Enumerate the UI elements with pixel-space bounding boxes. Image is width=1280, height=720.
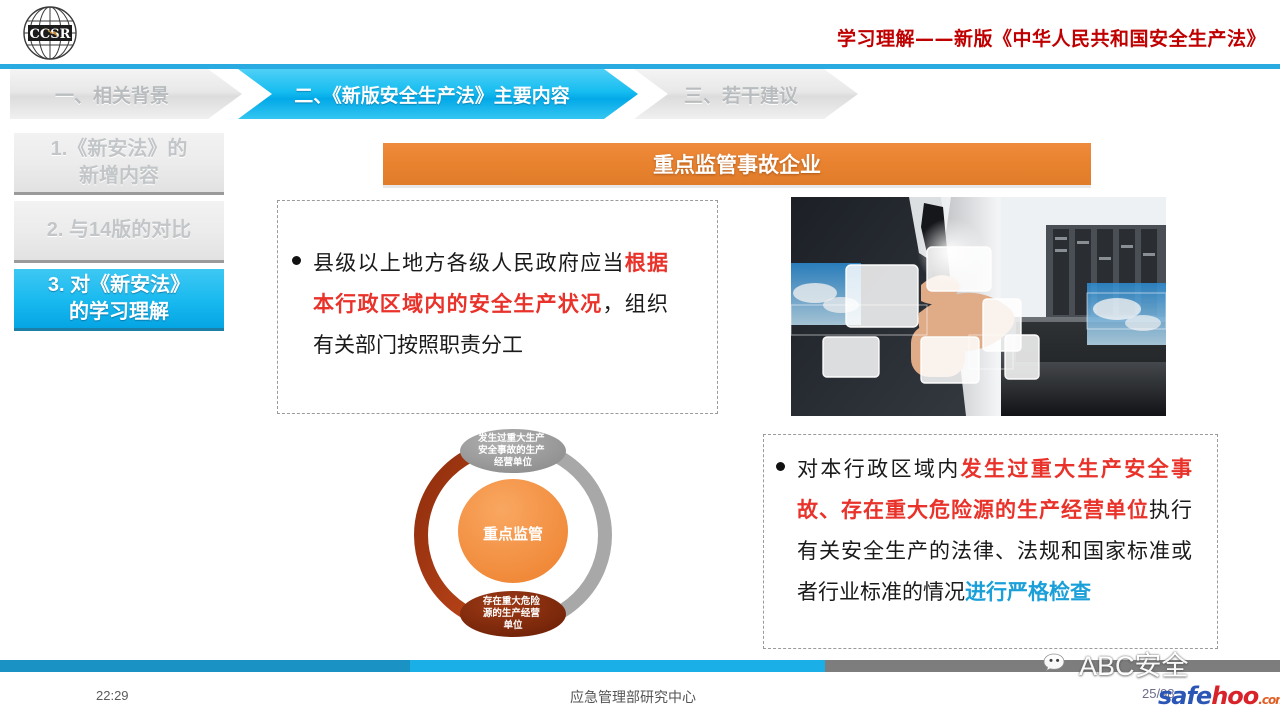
seg-plain: 对本行政区域内 xyxy=(797,457,961,481)
sidebar-item-new-content[interactable]: 1.《新安法》的 新增内容 xyxy=(14,133,224,195)
logo-text: CCSR xyxy=(30,27,71,42)
focus-supervision-ring-diagram: 重点监管 发生过重大生产 安全事故的生产 经营单位 存在重大危险 源的生产经营 … xyxy=(404,427,622,639)
bullet-icon xyxy=(292,256,301,265)
footer-organization: 应急管理部研究中心 xyxy=(570,687,696,707)
footer-progress-fill xyxy=(0,660,410,672)
text-box-government-duty: 县级以上地方各级人民政府应当根据本行政区域内的安全生产状况，组织有关部门按照职责… xyxy=(277,200,718,414)
box-a-text: 县级以上地方各级人民政府应当根据本行政区域内的安全生产状况，组织有关部门按照职责… xyxy=(313,243,668,366)
box-b-text: 对本行政区域内发生过重大生产安全事故、存在重大危险源的生产经营单位执行有关安全生… xyxy=(797,449,1192,613)
sidebar: 1.《新安法》的 新增内容 2. 与14版的对比 3. 对《新安法》 的学习理解 xyxy=(14,133,224,337)
tab-background[interactable]: 一、相关背景 xyxy=(10,69,242,119)
watermark-safehoo: safehoo.com xyxy=(1158,684,1280,712)
sidebar-item-label-line2: 的学习理解 xyxy=(69,299,169,326)
sidebar-item-label-line1: 1.《新安法》的 xyxy=(51,136,188,163)
sidebar-item-study[interactable]: 3. 对《新安法》 的学习理解 xyxy=(14,269,224,331)
seg-blue: 进行严格检查 xyxy=(965,580,1091,604)
ccsr-globe-logo: CCSR xyxy=(18,6,82,62)
header-divider xyxy=(0,64,1280,69)
page-title: 学习理解——新版《中华人民共和国安全生产法》 xyxy=(837,24,1266,51)
tab-suggestions[interactable]: 三、若干建议 xyxy=(634,69,858,119)
sidebar-item-comparison[interactable]: 2. 与14版的对比 xyxy=(14,201,224,263)
bullet-icon xyxy=(776,462,785,471)
seg-plain: 县级以上地方各级人民政府应当 xyxy=(313,251,625,275)
section-banner: 重点监管事故企业 xyxy=(383,143,1091,188)
sidebar-item-label-line2: 新增内容 xyxy=(79,163,159,190)
slide-root: CCSR 学习理解——新版《中华人民共和国安全生产法》 一、相关背景 二、《新版… xyxy=(0,0,1280,720)
footer-time: 22:29 xyxy=(96,688,129,703)
safehoo-part-1: safe xyxy=(1158,682,1211,710)
tab-main-content[interactable]: 二、《新版安全生产法》主要内容 xyxy=(238,69,638,119)
sidebar-item-label-line1: 2. 与14版的对比 xyxy=(47,217,191,244)
sidebar-item-label-line1: 3. 对《新安法》 xyxy=(48,272,190,299)
safehoo-part-3: .com xyxy=(1258,693,1280,707)
illustration-photo xyxy=(791,197,1166,416)
footer-bar-remainder xyxy=(825,660,1280,672)
text-box-strict-inspection: 对本行政区域内发生过重大生产安全事故、存在重大危险源的生产经营单位执行有关安全生… xyxy=(763,434,1218,649)
safehoo-part-2: hoo xyxy=(1211,682,1258,710)
ring-center-label: 重点监管 xyxy=(483,525,543,543)
